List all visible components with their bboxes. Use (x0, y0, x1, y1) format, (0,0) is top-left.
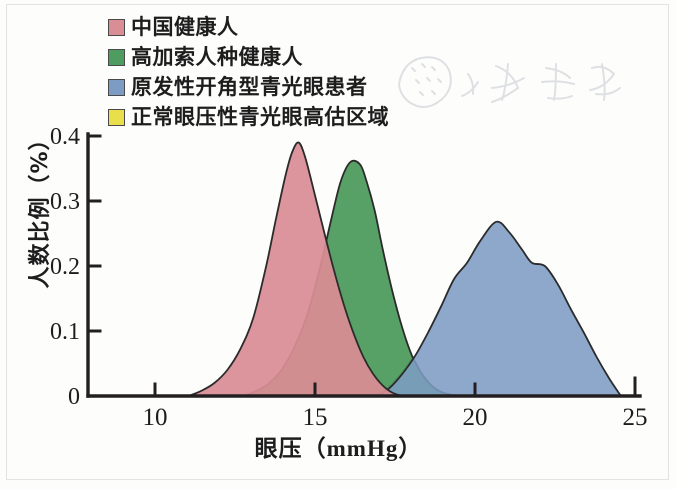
legend-swatch-caucasian-healthy (108, 49, 125, 66)
legend-item-ntg-overestimate: 正常眼压性青光眼高估区域 (108, 102, 389, 132)
legend-swatch-ntg-overestimate (108, 109, 125, 126)
y-tick-label-0: 0 (68, 384, 80, 410)
y-tick-label-0-3: 0.3 (50, 189, 80, 215)
x-tick-label-15: 15 (303, 404, 328, 431)
legend-label-chinese-healthy: 中国健康人 (131, 17, 239, 38)
legend-item-chinese-healthy: 中国健康人 (108, 12, 389, 42)
x-axis-title-text: 眼压 (255, 436, 303, 462)
y-axis-title: 人数比例（%） (22, 108, 54, 308)
legend-swatch-poag-patients (108, 79, 125, 96)
area-poag-patients (376, 222, 621, 396)
legend-label-poag-patients: 原发性开角型青光眼患者 (131, 77, 368, 98)
figure-container: 中国健康人 高加索人种健康人 原发性开角型青光眼患者 正常眼压性青光眼高估区域 (0, 0, 677, 489)
x-tick-label-20: 20 (463, 404, 488, 431)
legend-label-caucasian-healthy: 高加索人种健康人 (131, 47, 303, 68)
x-axis-title: 眼压（mmHg） (0, 429, 677, 463)
x-tick-label-10: 10 (143, 404, 168, 431)
legend-label-ntg-overestimate: 正常眼压性青光眼高估区域 (131, 107, 389, 128)
legend-swatch-chinese-healthy (108, 19, 125, 36)
y-tick-label-0-4: 0.4 (50, 124, 80, 150)
y-tick-label-0-2: 0.2 (50, 254, 80, 280)
legend-item-caucasian-healthy: 高加索人种健康人 (108, 42, 389, 72)
x-axis-unit: （mmHg） (303, 436, 423, 461)
legend: 中国健康人 高加索人种健康人 原发性开角型青光眼患者 正常眼压性青光眼高估区域 (108, 12, 389, 132)
legend-item-poag-patients: 原发性开角型青光眼患者 (108, 72, 389, 102)
y-tick-label-0-1: 0.1 (50, 319, 80, 345)
x-tick-label-25: 25 (623, 404, 648, 431)
